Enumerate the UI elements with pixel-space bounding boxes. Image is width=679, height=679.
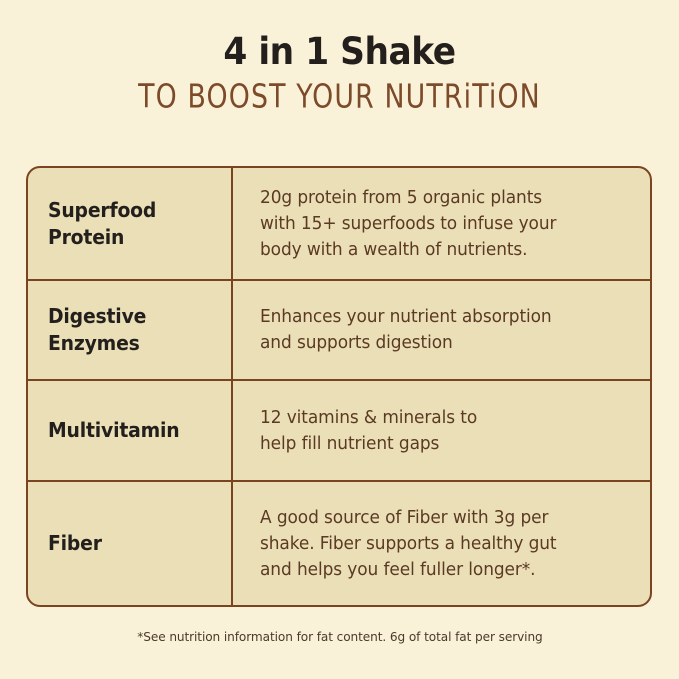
label-line: Digestive xyxy=(48,303,211,330)
page-title: 4 in 1 Shake xyxy=(24,30,655,74)
table-row: Digestive Enzymes Enhances your nutrient… xyxy=(28,281,650,381)
infographic-page: 4 in 1 Shake TO BOOST YOUR NUTRiTiON Sup… xyxy=(0,0,679,679)
page-subtitle: TO BOOST YOUR NUTRiTiON xyxy=(14,77,666,117)
label-line: Superfood xyxy=(48,197,211,224)
footnote-text: *See nutrition information for fat conte… xyxy=(137,628,542,646)
table-row-description-digestive-enzymes: Enhances your nutrient absorption and su… xyxy=(233,281,650,379)
table-row-description-multivitamin: 12 vitamins & minerals to help fill nutr… xyxy=(233,381,650,480)
description-line: with 15+ superfoods to infuse your xyxy=(260,211,623,237)
table-row-label-digestive-enzymes: Digestive Enzymes xyxy=(28,281,233,379)
label-line: Fiber xyxy=(48,530,211,557)
table-row-label-fiber: Fiber xyxy=(28,482,233,605)
table-row: Fiber A good source of Fiber with 3g per… xyxy=(28,482,650,605)
table-row-description-superfood-protein: 20g protein from 5 organic plants with 1… xyxy=(233,168,650,279)
label-line: Multivitamin xyxy=(48,417,211,444)
description-line: A good source of Fiber with 3g per xyxy=(260,505,623,531)
description-line: body with a wealth of nutrients. xyxy=(260,237,623,263)
benefits-table: Superfood Protein 20g protein from 5 org… xyxy=(26,166,652,607)
description-line: 20g protein from 5 organic plants xyxy=(260,185,623,211)
description-line: shake. Fiber supports a healthy gut xyxy=(260,531,623,557)
label-line: Enzymes xyxy=(48,330,211,357)
table-row-description-fiber: A good source of Fiber with 3g per shake… xyxy=(233,482,650,605)
footnote: *See nutrition information for fat conte… xyxy=(0,628,679,646)
description-line: 12 vitamins & minerals to xyxy=(260,405,623,431)
table-row: Superfood Protein 20g protein from 5 org… xyxy=(28,168,650,281)
table-row-label-multivitamin: Multivitamin xyxy=(28,381,233,480)
table-row-label-superfood-protein: Superfood Protein xyxy=(28,168,233,279)
description-line: help fill nutrient gaps xyxy=(260,431,623,457)
table-row: Multivitamin 12 vitamins & minerals to h… xyxy=(28,381,650,482)
description-line: Enhances your nutrient absorption xyxy=(260,304,623,330)
heading-block: 4 in 1 Shake TO BOOST YOUR NUTRiTiON xyxy=(0,30,679,116)
description-line: and helps you feel fuller longer*. xyxy=(260,557,623,583)
label-line: Protein xyxy=(48,224,211,251)
description-line: and supports digestion xyxy=(260,330,623,356)
